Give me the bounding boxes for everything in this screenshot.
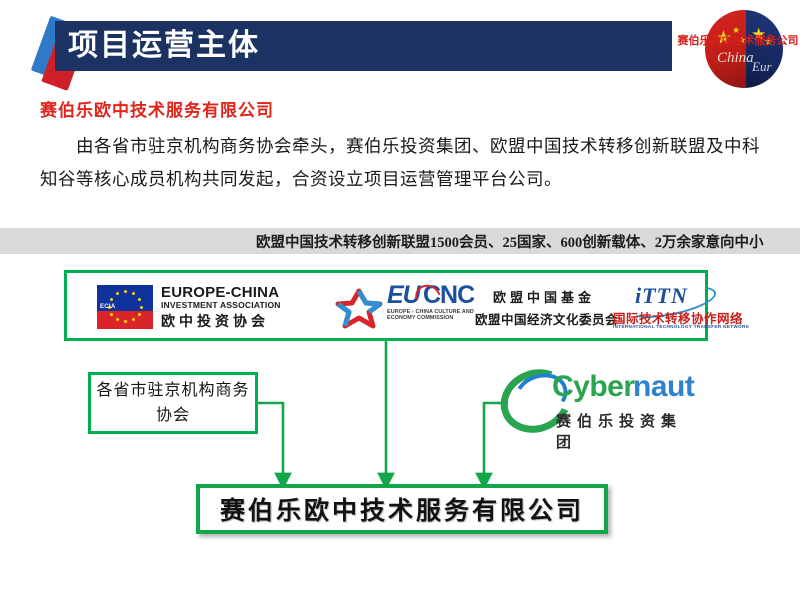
page-title: 项目运营主体 bbox=[68, 28, 260, 64]
ecia-flag-emblem: ECIA bbox=[97, 285, 153, 329]
eucnc-star-mark-icon bbox=[335, 287, 383, 329]
logo-china-flag-half bbox=[705, 10, 746, 88]
header-logo-caption: 赛伯乐欧中技术服务公司 bbox=[676, 32, 800, 48]
eucnc-cn-line-1: 欧盟中国基金 bbox=[493, 287, 595, 306]
main-entity-box: 赛伯乐欧中技术服务有限公司 bbox=[196, 484, 608, 534]
partner-logos-container: ECIA EUROPE-CHINA INVESTMENT ASSOCIATION… bbox=[64, 270, 708, 341]
ecia-line-3: 欧中投资协会 bbox=[161, 311, 269, 331]
ittn-logo: iTTN 国际技术转移协作网络 INTERNATIONAL TECHNOLOGY… bbox=[613, 283, 763, 333]
eucnc-logo: EU CNC EUROPE - CHINA CULTURE AND ECONOM… bbox=[335, 281, 635, 335]
main-entity-label: 赛伯乐欧中技术服务有限公司 bbox=[220, 491, 584, 527]
association-box-label: 各省市驻京机构商务协会 bbox=[91, 378, 255, 428]
logo-eu-flag-half bbox=[746, 10, 783, 88]
logo-word-china: China bbox=[717, 50, 754, 67]
gray-band-text: 欧盟中国技术转移创新联盟1500会员、25国家、600创新载体、2万余家意向中小 bbox=[256, 231, 764, 252]
ecia-flag-tag: ECIA bbox=[100, 304, 116, 310]
ittn-mark: iTTN bbox=[635, 283, 688, 309]
eucnc-cn-line-2: 欧盟中国经济文化委员会 bbox=[475, 309, 618, 328]
association-box: 各省市驻京机构商务协会 bbox=[88, 372, 258, 434]
cybernaut-word-naut: naut bbox=[633, 370, 694, 404]
section-heading: 赛伯乐欧中技术服务有限公司 bbox=[40, 96, 274, 121]
ecia-logo: ECIA EUROPE-CHINA INVESTMENT ASSOCIATION… bbox=[97, 283, 327, 331]
china-eu-circular-logo: ★ ★ ★ ★ ★ China Eur bbox=[705, 10, 783, 88]
cybernaut-logo: Cyber naut 赛伯乐投资集团 bbox=[500, 368, 700, 438]
body-paragraph: 由各省市驻京机构商务协会牵头，赛伯乐投资集团、欧盟中国技术转移创新联盟及中科知谷… bbox=[40, 130, 760, 196]
cybernaut-cn-name: 赛伯乐投资集团 bbox=[556, 410, 700, 452]
logo-word-eu: Eur bbox=[752, 59, 772, 75]
cybernaut-word-cyber: Cyber bbox=[552, 370, 635, 404]
ecia-line-2: INVESTMENT ASSOCIATION bbox=[161, 300, 281, 310]
ittn-en-name: INTERNATIONAL TECHNOLOGY TRANSFER NETWOR… bbox=[613, 324, 749, 329]
gray-info-band: 欧盟中国技术转移创新联盟1500会员、25国家、600创新载体、2万余家意向中小 bbox=[0, 228, 800, 254]
eucnc-subtitle: EUROPE - CHINA CULTURE AND ECONOMY COMMI… bbox=[387, 309, 487, 322]
ecia-line-1: EUROPE-CHINA bbox=[161, 284, 279, 301]
slide-canvas: 项目运营主体 ★ ★ ★ ★ ★ China Eur 赛伯乐欧中技术服务公司 赛… bbox=[0, 0, 800, 600]
